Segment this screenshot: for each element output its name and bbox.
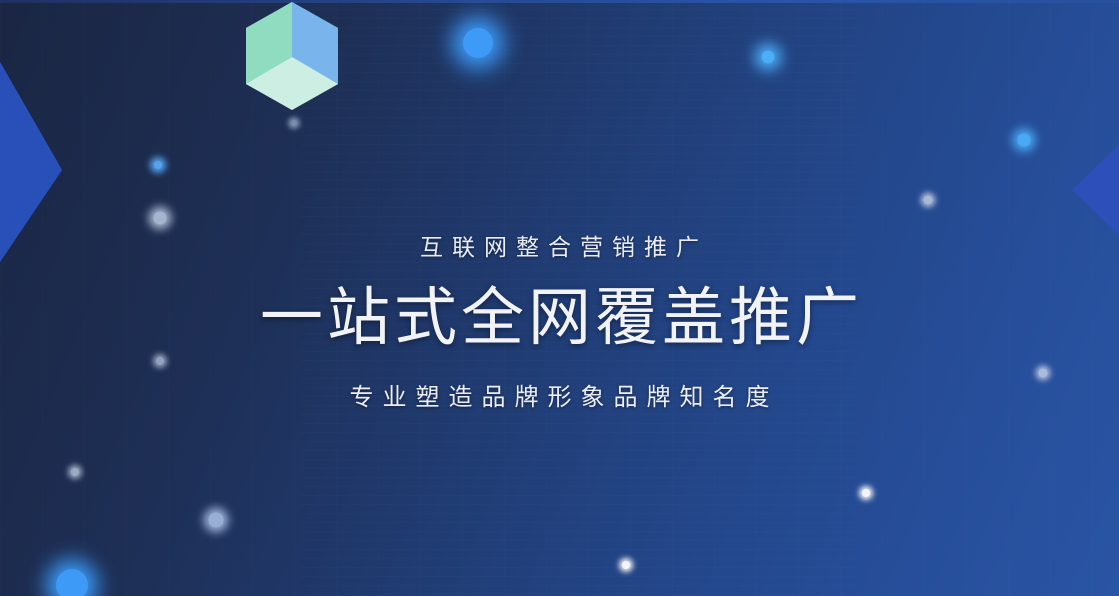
dot-14-decoration	[291, 120, 297, 126]
dot-12-decoration	[622, 561, 630, 569]
dot-6-decoration	[924, 196, 933, 205]
dot-2-decoration	[762, 51, 775, 64]
background-top-highlight	[0, 0, 1119, 3]
dot-4-decoration	[154, 161, 162, 169]
banner-headline: 一站式全网覆盖推广	[0, 280, 1119, 356]
banner-eyebrow: 互联网整合营销推广	[0, 231, 1119, 265]
dot-13-decoration	[56, 569, 88, 596]
dot-8-decoration	[1039, 369, 1048, 378]
dot-7-decoration	[156, 357, 164, 365]
dot-3-decoration	[1018, 134, 1031, 147]
banner-subline: 专业塑造品牌形象品牌知名度	[0, 379, 1119, 415]
dot-1-decoration	[463, 28, 493, 58]
cube-logo-icon	[242, 0, 342, 118]
dot-5-decoration	[154, 212, 167, 225]
dot-10-decoration	[862, 489, 870, 497]
promo-banner: 互联网整合营销推广 一站式全网覆盖推广 专业塑造品牌形象品牌知名度	[0, 0, 1119, 596]
dot-11-decoration	[209, 513, 224, 528]
hexagon-right-icon	[1072, 75, 1119, 305]
dot-9-decoration	[71, 468, 79, 476]
